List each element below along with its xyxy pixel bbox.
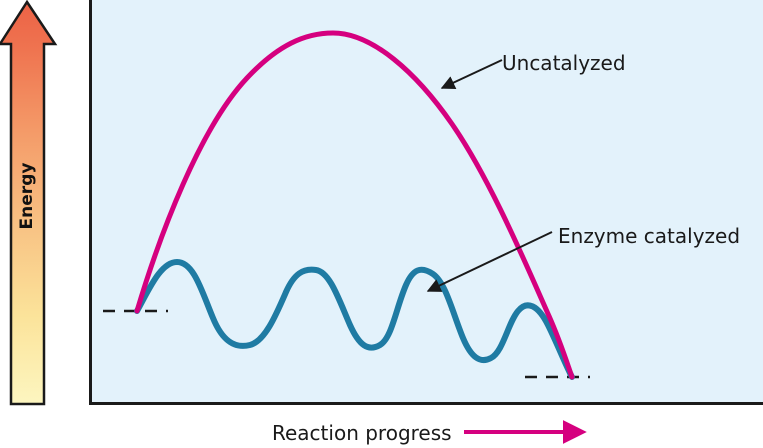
- plot-background: [90, 0, 763, 403]
- diagram-canvas: Energy Uncatalyzed Enzyme catalyzed Reac…: [0, 0, 763, 448]
- energy-diagram-figure: Energy Uncatalyzed Enzyme catalyzed Reac…: [0, 0, 763, 448]
- reaction-progress-label: Reaction progress: [272, 421, 452, 445]
- enzyme-catalyzed-label: Enzyme catalyzed: [558, 224, 740, 248]
- uncatalyzed-label: Uncatalyzed: [502, 51, 626, 75]
- energy-axis-label: Energy: [17, 163, 37, 230]
